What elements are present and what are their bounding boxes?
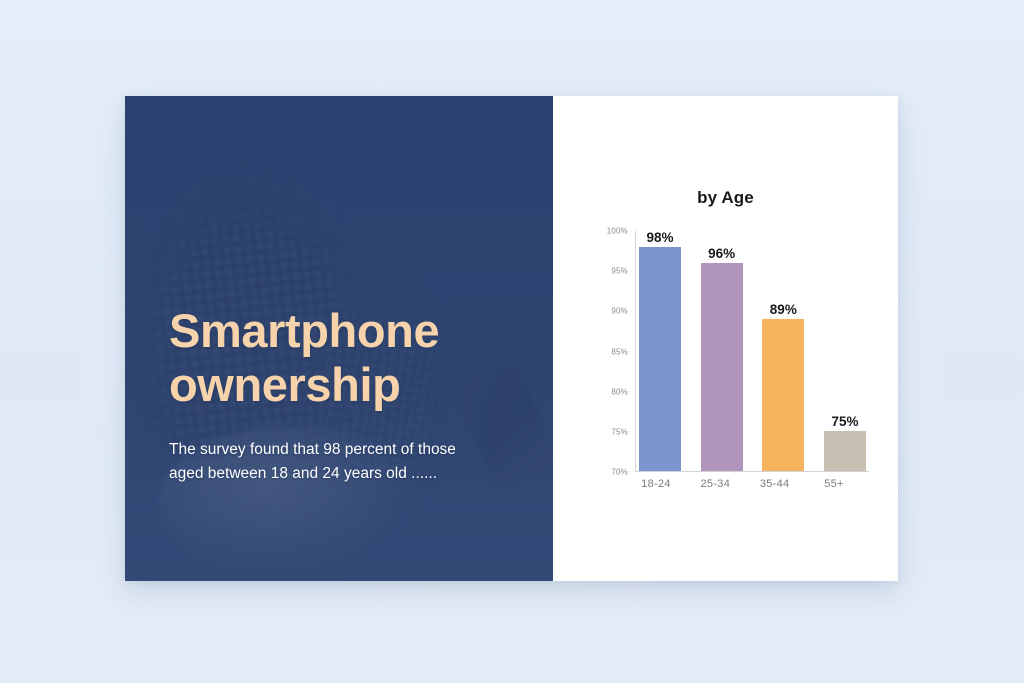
- bar-chart: 100%95%90%85%80%75%70% 98%96%89%75%: [601, 231, 869, 472]
- bar-slot: 75%: [824, 231, 866, 471]
- y-axis: 100%95%90%85%80%75%70%: [601, 231, 633, 472]
- slide-text-block: Smartphone ownership The survey found th…: [169, 304, 527, 485]
- y-axis-tick-label: 90%: [611, 307, 628, 316]
- x-axis-tick-label: 25-34: [694, 478, 736, 490]
- y-axis-tick-label: 70%: [611, 468, 628, 477]
- bar-25-34[interactable]: [701, 263, 743, 471]
- bar-data-label: 89%: [770, 302, 797, 317]
- presentation-slide: Smartphone ownership The survey found th…: [125, 96, 898, 581]
- bar-35-44[interactable]: [762, 319, 804, 471]
- y-axis-tick-label: 75%: [611, 427, 628, 436]
- y-axis-tick-label: 85%: [611, 347, 628, 356]
- bar-18-24[interactable]: [639, 247, 681, 471]
- plot-area: 98%96%89%75%: [635, 231, 869, 472]
- slide-subtitle: The survey found that 98 percent of thos…: [169, 438, 469, 485]
- x-axis: 18-2425-3435-4455+: [635, 478, 855, 490]
- slide-right-chart-panel: by Age 100%95%90%85%80%75%70% 98%96%89%7…: [553, 96, 898, 581]
- bar-data-label: 96%: [708, 246, 735, 261]
- y-axis-tick-label: 95%: [611, 267, 628, 276]
- page-title: Smartphone ownership: [169, 304, 527, 411]
- bar-data-label: 75%: [831, 414, 858, 429]
- bar-slot: 96%: [701, 231, 743, 471]
- bar-slot: 98%: [639, 231, 681, 471]
- chart-title: by Age: [553, 188, 898, 208]
- x-axis-tick-label: 55+: [813, 478, 855, 490]
- bar-data-label: 98%: [646, 230, 673, 245]
- slide-left-photo-panel: Smartphone ownership The survey found th…: [125, 96, 553, 581]
- bar-slot: 89%: [762, 231, 804, 471]
- y-axis-tick-label: 80%: [611, 387, 628, 396]
- bar-55+[interactable]: [824, 431, 866, 471]
- y-axis-tick-label: 100%: [607, 227, 628, 236]
- x-axis-tick-label: 35-44: [754, 478, 796, 490]
- bar-series: 98%96%89%75%: [639, 231, 866, 471]
- x-axis-tick-label: 18-24: [635, 478, 677, 490]
